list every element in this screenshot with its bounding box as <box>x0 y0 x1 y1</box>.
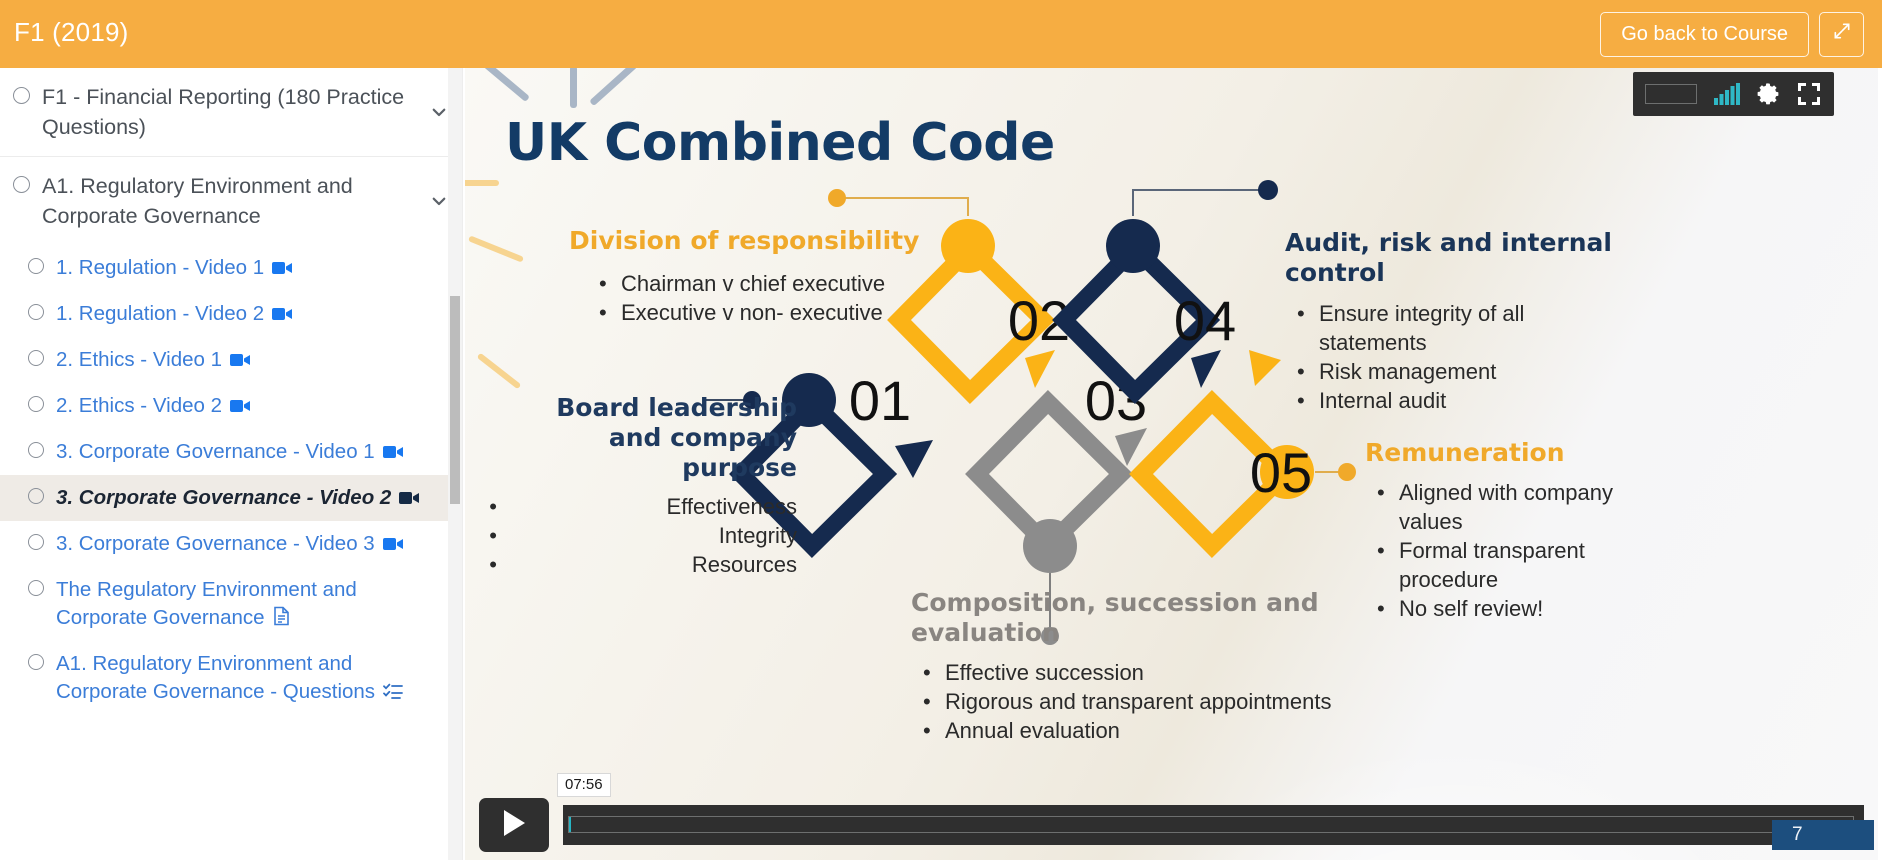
page-number-badge: 7 <box>1772 820 1874 850</box>
block-heading: Board leadership and company purpose <box>507 393 797 483</box>
block-heading: Composition, succession and evaluation <box>911 588 1351 648</box>
connector-line-audit <box>1133 190 1265 216</box>
fullscreen-icon[interactable] <box>1798 83 1820 105</box>
page-title: F1 (2019) <box>14 17 129 52</box>
sidebar-item-ethics-video-2[interactable]: 2. Ethics - Video 2 <box>0 383 462 429</box>
video-camera-icon <box>230 398 252 414</box>
sidebar-item-regulatory-environment-questions[interactable]: A1. Regulatory Environment and Corporate… <box>0 641 462 715</box>
time-tooltip: 07:56 <box>557 773 611 797</box>
video-camera-icon <box>272 260 294 276</box>
bullet-item: Executive v non- executive <box>621 298 919 327</box>
chevron-down-icon[interactable] <box>430 192 448 210</box>
bullet-item: Ensure integrity of all statements <box>1319 299 1635 357</box>
volume-slider[interactable] <box>1645 84 1697 104</box>
bullet-item: Rigorous and transparent appointments <box>945 687 1351 716</box>
block-heading: Remuneration <box>1365 438 1615 467</box>
checklist-icon <box>383 682 403 700</box>
block-heading: Division of responsibility <box>569 226 919 255</box>
video-camera-icon <box>272 306 294 322</box>
sidebar-item-corporate-governance-video-2[interactable]: 3. Corporate Governance - Video 2 <box>0 475 462 521</box>
connector-dot-division <box>828 189 846 207</box>
arrowhead-02 <box>1025 350 1055 388</box>
course-sidebar[interactable]: F1 - Financial Reporting (180 Practice Q… <box>0 68 463 860</box>
sidebar-item-label: A1. Regulatory Environment and Corporate… <box>56 652 375 703</box>
progress-bar-region[interactable]: 07:56 <box>563 805 1864 845</box>
node-circle-03 <box>1023 519 1077 573</box>
bullet-item: Risk management <box>1319 357 1635 386</box>
radio-circle-icon[interactable] <box>28 350 44 366</box>
slide-block-division-of-responsibility: Division of responsibility Chairman v ch… <box>569 226 919 327</box>
header-actions: Go back to Course <box>1600 12 1870 57</box>
bullet-item: Integrity <box>507 521 797 550</box>
arrowhead-03 <box>1115 428 1147 466</box>
sidebar-item-corporate-governance-video-3[interactable]: 3. Corporate Governance - Video 3 <box>0 521 462 567</box>
block-bullet-list: Chairman v chief executive Executive v n… <box>621 269 919 327</box>
sidebar-item-ethics-video-1[interactable]: 2. Ethics - Video 1 <box>0 337 462 383</box>
radio-circle-icon[interactable] <box>28 534 44 550</box>
bullet-item: Effectiveness <box>507 492 797 521</box>
bullet-item: Internal audit <box>1319 386 1635 415</box>
bullet-item: Annual evaluation <box>945 716 1351 745</box>
sidebar-item-label: 3. Corporate Governance - Video 2 <box>56 486 391 509</box>
video-camera-icon <box>383 536 405 552</box>
connector-dot-remuneration <box>1338 463 1356 481</box>
arrowhead-04 <box>1191 350 1221 388</box>
bullet-item: Aligned with company values <box>1399 478 1615 536</box>
sidebar-scrollbar[interactable] <box>448 68 462 860</box>
sidebar-item-label: 1. Regulation - Video 1 <box>56 256 264 279</box>
sidebar-item-label: The Regulatory Environment and Corporate… <box>56 578 357 629</box>
sidebar-item-regulation-video-1[interactable]: 1. Regulation - Video 1 <box>0 245 462 291</box>
node-circle-02 <box>941 219 995 273</box>
progress-played-indicator <box>569 817 571 832</box>
bullet-item: Formal transparent procedure <box>1399 536 1615 594</box>
go-back-to-course-button[interactable]: Go back to Course <box>1600 12 1809 57</box>
expand-button[interactable] <box>1819 12 1864 57</box>
block-heading: Audit, risk and internal control <box>1285 228 1635 288</box>
app-header: F1 (2019) Go back to Course <box>0 0 1882 68</box>
progress-track[interactable] <box>568 816 1854 833</box>
video-content-area: UK Combined Code 01 <box>463 68 1882 860</box>
play-icon <box>501 808 527 843</box>
slide-block-composition-succession: Composition, succession and evaluation E… <box>911 588 1351 745</box>
sidebar-group-f1-financial-reporting[interactable]: F1 - Financial Reporting (180 Practice Q… <box>0 68 462 156</box>
diagram-number-01: 01 <box>849 369 911 432</box>
diagram-number-05: 05 <box>1250 441 1312 504</box>
chevron-down-icon[interactable] <box>430 103 448 121</box>
video-player-stage[interactable]: UK Combined Code 01 <box>465 68 1878 860</box>
connector-dot-audit <box>1258 180 1278 200</box>
radio-circle-icon[interactable] <box>28 304 44 320</box>
block-bullet-list: Ensure integrity of all statements Risk … <box>1319 299 1635 415</box>
sidebar-item-regulatory-environment-document[interactable]: The Regulatory Environment and Corporate… <box>0 567 462 641</box>
bullet-item: No self review! <box>1399 594 1615 623</box>
video-camera-icon <box>383 444 405 460</box>
bullet-item: Resources <box>507 550 797 579</box>
radio-circle-icon[interactable] <box>28 396 44 412</box>
sidebar-item-corporate-governance-video-1[interactable]: 3. Corporate Governance - Video 1 <box>0 429 462 475</box>
sidebar-item-regulation-video-2[interactable]: 1. Regulation - Video 2 <box>0 291 462 337</box>
gear-icon[interactable] <box>1757 82 1781 106</box>
slide-block-board-leadership: Board leadership and company purpose Eff… <box>507 393 797 579</box>
play-button[interactable] <box>479 798 549 852</box>
document-icon <box>273 606 290 626</box>
radio-circle-icon[interactable] <box>28 580 44 596</box>
diagram-number-04: 04 <box>1174 289 1236 352</box>
bullet-item: Chairman v chief executive <box>621 269 919 298</box>
sidebar-group-label: F1 - Financial Reporting (180 Practice Q… <box>42 82 452 142</box>
sidebar-item-label: 3. Corporate Governance - Video 1 <box>56 440 375 463</box>
sidebar-group-a1-regulatory-environment[interactable]: A1. Regulatory Environment and Corporate… <box>0 156 462 245</box>
sidebar-item-label: 1. Regulation - Video 2 <box>56 302 264 325</box>
bullet-item: Effective succession <box>945 658 1351 687</box>
radio-circle-icon[interactable] <box>28 442 44 458</box>
arrowhead-01 <box>895 440 933 478</box>
connector-line-division <box>840 198 968 216</box>
radio-circle-icon[interactable] <box>13 87 30 104</box>
node-circle-04 <box>1106 219 1160 273</box>
volume-bars-icon[interactable] <box>1714 83 1740 105</box>
block-bullet-list: Effectiveness Integrity Resources <box>507 492 797 579</box>
arrowhead-05 <box>1249 350 1281 386</box>
radio-circle-icon[interactable] <box>28 488 44 504</box>
radio-circle-icon[interactable] <box>28 258 44 274</box>
sidebar-scrollbar-thumb[interactable] <box>450 296 460 504</box>
right-gutter <box>1878 68 1882 860</box>
slide-block-audit-risk-internal-control: Audit, risk and internal control Ensure … <box>1285 228 1635 415</box>
video-player-controls[interactable]: 07:56 <box>479 798 1864 852</box>
expand-arrows-icon <box>1832 21 1852 47</box>
sidebar-group-label: A1. Regulatory Environment and Corporate… <box>42 171 452 231</box>
player-right-controls[interactable] <box>1633 72 1834 116</box>
slide-block-remuneration: Remuneration Aligned with company values… <box>1365 438 1615 623</box>
sidebar-item-label: 3. Corporate Governance - Video 3 <box>56 532 375 555</box>
sidebar-item-label: 2. Ethics - Video 2 <box>56 394 222 417</box>
video-camera-icon <box>399 490 421 506</box>
block-bullet-list: Effective succession Rigorous and transp… <box>945 658 1351 745</box>
block-bullet-list: Aligned with company values Formal trans… <box>1399 478 1615 623</box>
radio-circle-icon[interactable] <box>28 654 44 670</box>
sidebar-item-label: 2. Ethics - Video 1 <box>56 348 222 371</box>
main-content-wrapper: F1 - Financial Reporting (180 Practice Q… <box>0 68 1882 860</box>
radio-circle-icon[interactable] <box>13 176 30 193</box>
sidebar-scroll-content: F1 - Financial Reporting (180 Practice Q… <box>0 68 462 715</box>
video-camera-icon <box>230 352 252 368</box>
